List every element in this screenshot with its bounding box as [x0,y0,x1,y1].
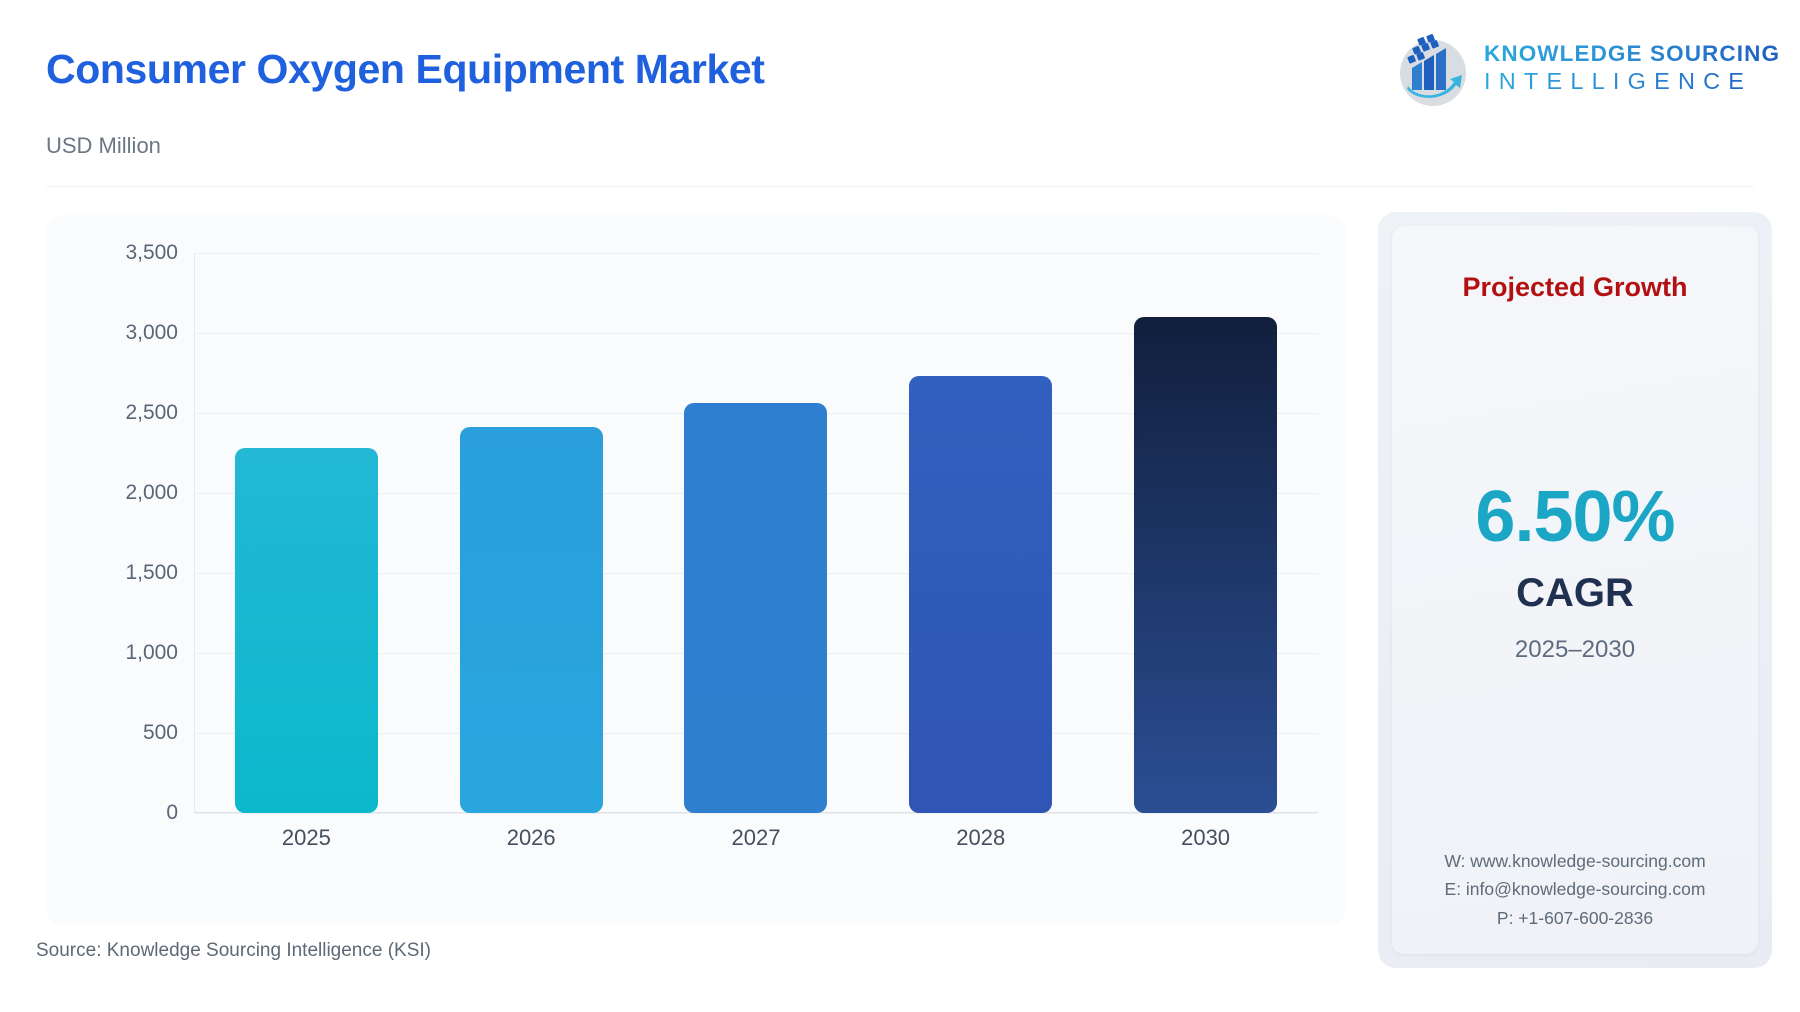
contact-website[interactable]: W: www.knowledge-sourcing.com [1392,847,1758,875]
y-axis-tick-label: 1,500 [125,561,178,585]
y-axis-tick-label: 1,000 [125,641,178,665]
x-axis-labels: 20252026202720282030 [194,823,1318,853]
y-axis-tick-label: 2,500 [125,401,178,425]
x-axis-label-2025: 2025 [205,825,407,851]
x-axis-label-2027: 2027 [655,825,857,851]
y-axis-tick-label: 0 [166,801,178,825]
logo-wordmark: KNOWLEDGE SOURCING INTELLIGENCE [1484,41,1780,96]
y-axis-tick-label: 3,500 [125,241,178,265]
x-axis-label-2028: 2028 [880,825,1082,851]
contact-phone[interactable]: P: +1-607-600-2836 [1392,904,1758,932]
logo-line-2: INTELLIGENCE [1484,67,1780,96]
infographic-page: Consumer Oxygen Equipment Market USD Mil… [0,0,1800,1012]
bar-slot [880,253,1082,813]
bar-series [194,253,1318,813]
logo-line-1: KNOWLEDGE SOURCING [1484,41,1780,67]
projected-growth-heading: Projected Growth [1392,272,1758,303]
x-axis-label-2026: 2026 [430,825,632,851]
bar-2025[interactable] [235,448,378,813]
bar-2027[interactable] [684,403,827,813]
cagr-period: 2025–2030 [1392,636,1758,664]
contact-block: W: www.knowledge-sourcing.com E: info@kn… [1392,847,1758,932]
plot-area: 3,5003,0002,5002,0001,5001,0005000 [194,253,1318,813]
bar-2026[interactable] [460,427,603,813]
bar-slot [655,253,857,813]
bar-2030[interactable] [1134,317,1277,813]
y-axis-tick-label: 2,000 [125,481,178,505]
projected-growth-inner: Projected Growth 6.50% CAGR 2025–2030 W:… [1392,226,1758,954]
y-axis-tick-label: 500 [143,721,178,745]
header: Consumer Oxygen Equipment Market USD Mil… [0,0,1800,185]
page-subtitle: USD Million [46,133,161,159]
cagr-label: CAGR [1392,571,1758,616]
ksi-logo-icon [1392,28,1474,110]
projected-growth-panel: Projected Growth 6.50% CAGR 2025–2030 W:… [1378,212,1772,968]
page-title: Consumer Oxygen Equipment Market [46,46,765,93]
x-axis-label-2030: 2030 [1104,825,1306,851]
company-logo: KNOWLEDGE SOURCING INTELLIGENCE [1392,26,1764,112]
bar-slot [205,253,407,813]
y-axis-tick-label: 3,000 [125,321,178,345]
source-note: Source: Knowledge Sourcing Intelligence … [36,940,431,962]
bar-2028[interactable] [909,376,1052,813]
header-divider [46,186,1754,187]
gridline [194,813,1318,814]
bar-slot [430,253,632,813]
bar-slot [1104,253,1306,813]
cagr-value: 6.50% [1392,476,1758,558]
contact-email[interactable]: E: info@knowledge-sourcing.com [1392,875,1758,903]
chart-card: 3,5003,0002,5002,0001,5001,0005000 20252… [46,215,1346,925]
